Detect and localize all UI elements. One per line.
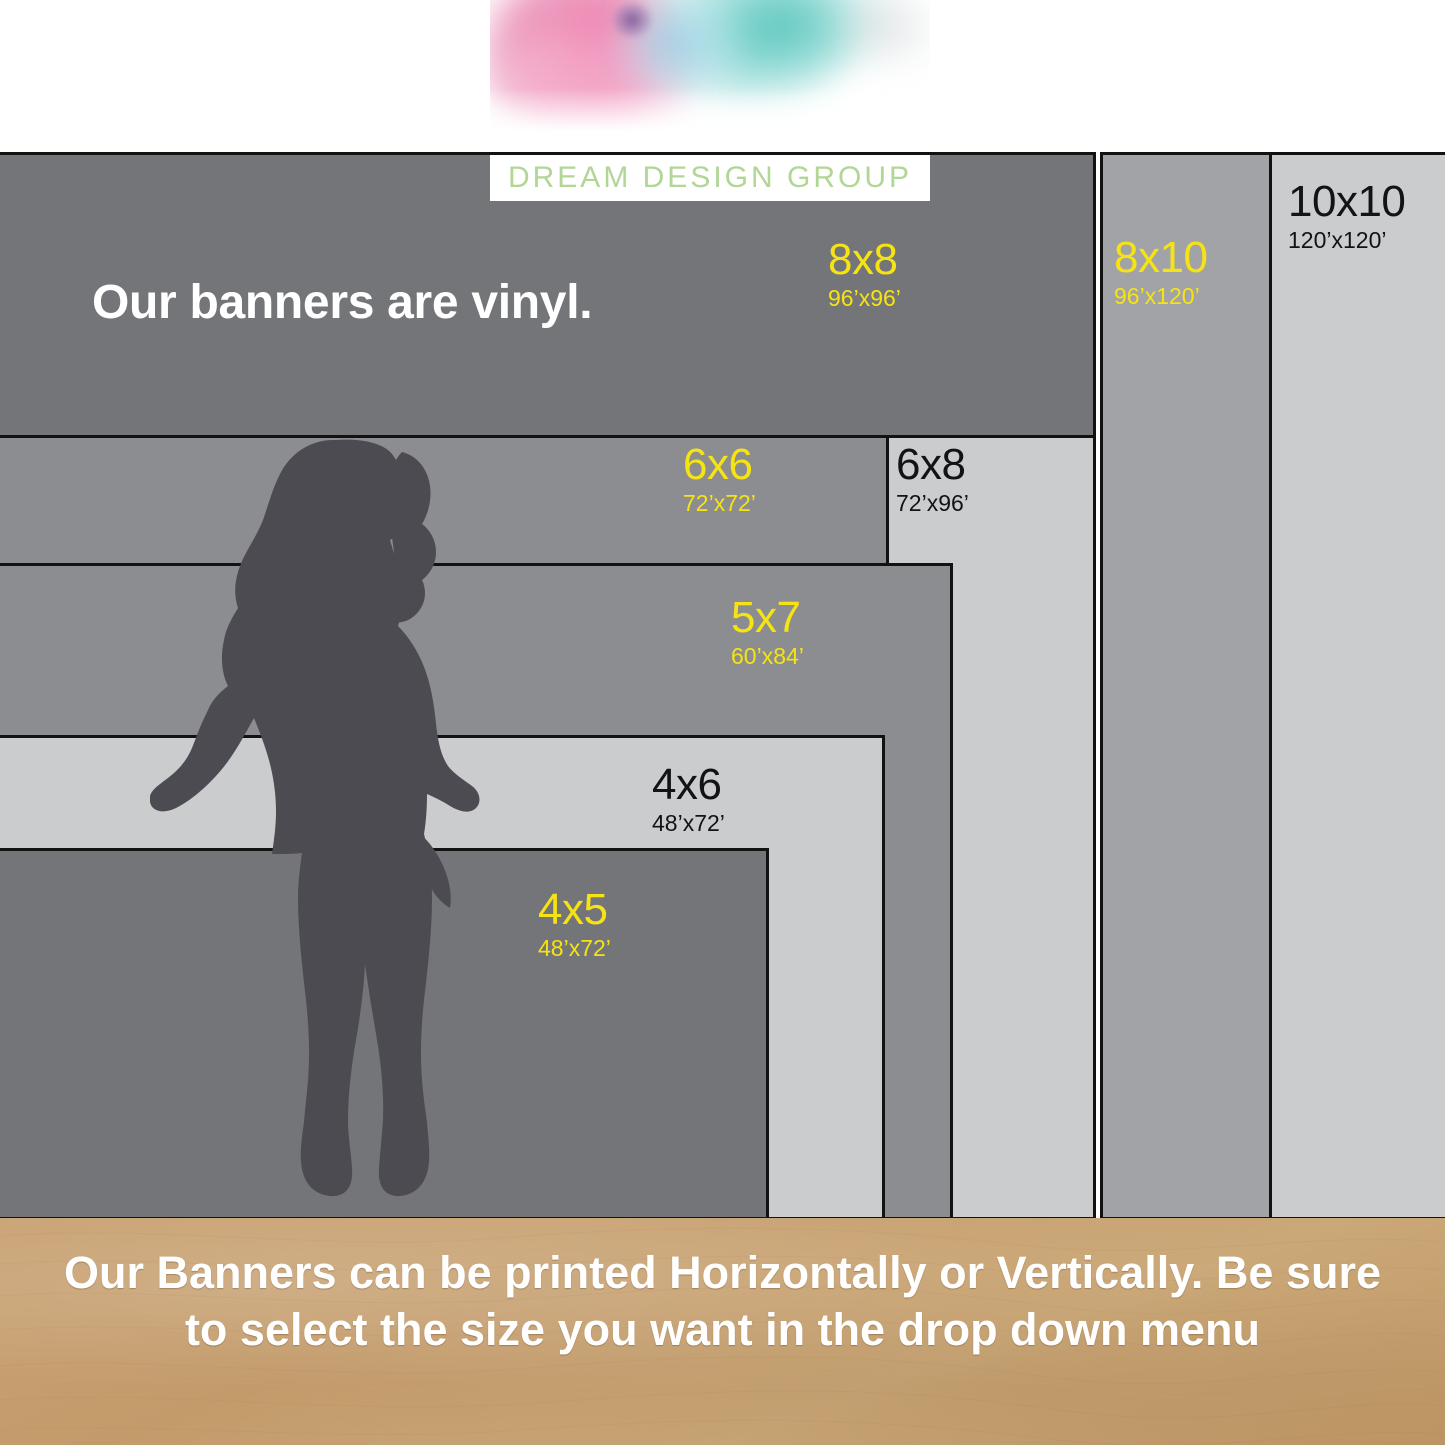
banner-rect-10x10[interactable] (1268, 152, 1445, 1220)
banner-label-10x10: 10x10 120’x120’ (1288, 180, 1405, 252)
banner-label-4x6-size: 4x6 (652, 763, 725, 807)
banner-label-4x6-dims: 48’x72’ (652, 812, 725, 835)
banner-label-5x7-size: 5x7 (731, 596, 804, 640)
banner-label-10x10-size: 10x10 (1288, 180, 1405, 224)
banner-label-8x8: 8x8 96’x96’ (828, 238, 901, 310)
brand-logo (490, 0, 930, 150)
banner-label-4x5-size: 4x5 (538, 888, 611, 932)
banner-label-10x10-dims: 120’x120’ (1288, 229, 1405, 252)
banner-label-5x7-dims: 60’x84’ (731, 645, 804, 668)
woman-silhouette (150, 430, 530, 1225)
banner-label-6x6-dims: 72’x72’ (683, 492, 756, 515)
banner-label-6x8-dims: 72’x96’ (896, 492, 969, 515)
banner-label-8x10-size: 8x10 (1114, 236, 1207, 280)
banner-label-6x6-size: 6x6 (683, 443, 756, 487)
banner-label-8x8-size: 8x8 (828, 238, 901, 282)
watercolor-blob-violet-icon (612, 2, 652, 38)
banner-label-4x5: 4x5 48’x72’ (538, 888, 611, 960)
caption-band: Our Banners can be printed Horizontally … (0, 1218, 1445, 1445)
brand-wordmark-box: DREAM DESIGN GROUP (490, 155, 930, 201)
banner-size-chart: 10x10 120’x120’ 8x10 96’x120’ 8x8 96’x96… (0, 0, 1445, 1445)
banner-label-6x8: 6x8 72’x96’ (896, 443, 969, 515)
page-headline: Our banners are vinyl. (92, 275, 592, 330)
banner-label-6x6: 6x6 72’x72’ (683, 443, 756, 515)
banner-label-6x8-size: 6x8 (896, 443, 969, 487)
banner-rect-8x10[interactable] (1100, 152, 1272, 1220)
banner-label-4x6: 4x6 48’x72’ (652, 763, 725, 835)
banner-label-8x10: 8x10 96’x120’ (1114, 236, 1207, 308)
logo-fade-overlay (490, 88, 930, 150)
banner-label-4x5-dims: 48’x72’ (538, 937, 611, 960)
banner-label-8x10-dims: 96’x120’ (1114, 285, 1207, 308)
banner-label-8x8-dims: 96’x96’ (828, 287, 901, 310)
banner-label-5x7: 5x7 60’x84’ (731, 596, 804, 668)
brand-wordmark: DREAM DESIGN GROUP (508, 161, 912, 195)
woman-silhouette-icon (150, 430, 530, 1225)
caption-text: Our Banners can be printed Horizontally … (0, 1244, 1445, 1358)
